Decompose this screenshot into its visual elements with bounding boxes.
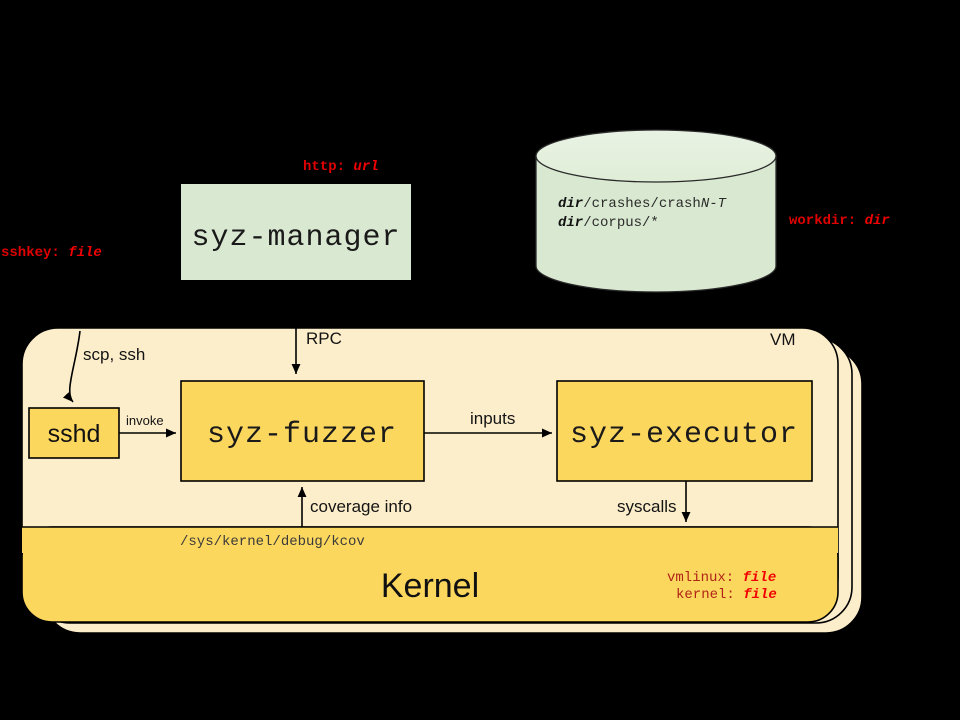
flag-workdir: workdir: dir [789,213,890,229]
flag-http-name: http: [303,159,345,175]
syz-manager-node[interactable]: syz-manager [181,184,411,280]
vm-label: VM [770,330,796,349]
flag-vmlinux-name: vmlinux: [667,570,734,586]
flag-kernel-name: kernel: [676,587,735,603]
edge-scp-ssh-label: scp, ssh [83,345,145,364]
flag-workdir-name: workdir: [789,213,856,229]
diagram-canvas: /sys/kernel/debug/kcov Kernel VM syz-man… [0,0,960,720]
flag-http-value: url [353,159,378,175]
flag-sshkey: sshkey: file [1,245,102,261]
syz-manager-label: syz-manager [191,221,400,255]
edge-inputs-label: inputs [470,409,515,428]
flag-http: http: url [303,159,379,175]
store-line-0-var: N-T [701,196,727,212]
store-line-0-mid: /crashes/crash [583,196,701,212]
edge-syscalls-label: syscalls [617,497,677,516]
flag-vmlinux: vmlinux: file [667,570,776,586]
sshd-label: sshd [48,420,101,448]
edge-rpc-label: RPC [306,329,342,348]
flag-workdir-value: dir [865,213,891,229]
syz-fuzzer-node[interactable]: syz-fuzzer [181,381,424,481]
store-line-0: dir/crashes/crashN-T [558,196,727,212]
kcov-path-label: /sys/kernel/debug/kcov [180,534,365,550]
syz-fuzzer-label: syz-fuzzer [207,418,397,452]
edge-invoke-label: invoke [126,413,164,428]
flag-sshkey-value: file [68,245,102,261]
flag-kernel: kernel: file [676,587,777,603]
store-line-0-prefix: dir [558,196,584,212]
store-line-1: dir/corpus/* [558,215,659,231]
architecture-diagram: /sys/kernel/debug/kcov Kernel VM syz-man… [0,0,960,720]
workdir-store-node: dir/crashes/crashN-T dir/corpus/* [536,130,776,292]
syz-executor-label: syz-executor [570,418,798,452]
syz-executor-node[interactable]: syz-executor [557,381,812,481]
flag-vmlinux-value: file [743,570,777,586]
store-cylinder-top [536,130,776,182]
edge-coverage-label: coverage info [310,497,412,516]
flag-sshkey-name: sshkey: [1,245,60,261]
kernel-title: Kernel [381,567,479,605]
store-line-1-prefix: dir [558,215,584,231]
sshd-node[interactable]: sshd [29,408,119,458]
store-line-1-mid: /corpus/* [583,215,659,231]
kernel-box-top-fill [22,527,838,553]
flag-kernel-value: file [743,587,777,603]
